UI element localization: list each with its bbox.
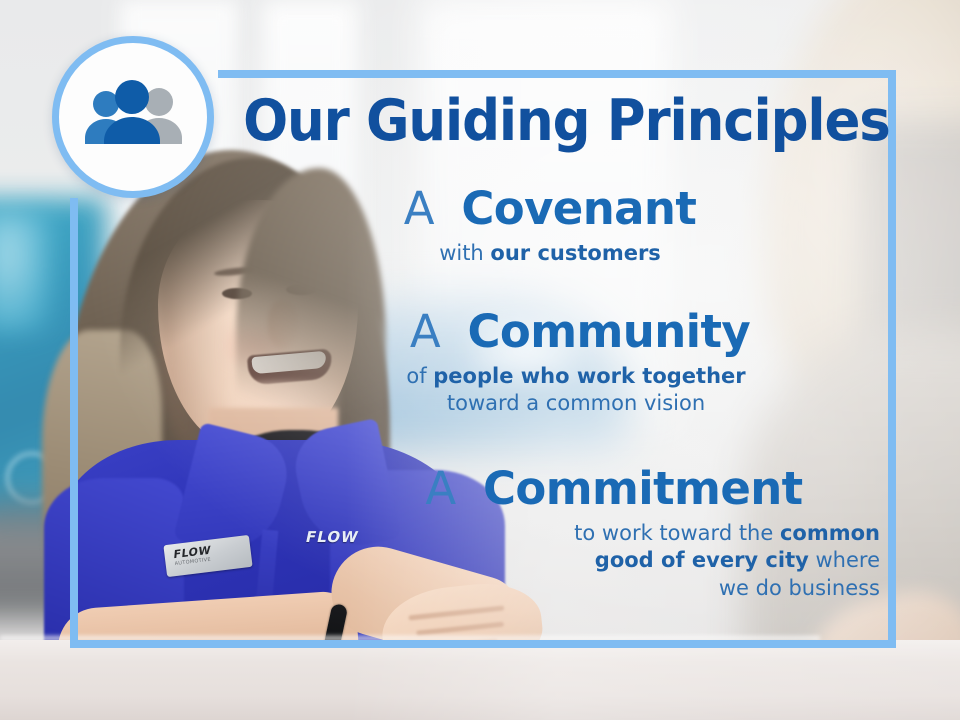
principle-community-article: A — [410, 305, 454, 358]
text-fragment: to work toward the — [574, 521, 780, 545]
principle-community-keyword: Community — [467, 305, 750, 358]
principle-covenant-article: A — [404, 182, 448, 235]
people-group-badge — [52, 36, 214, 198]
page-title: Our Guiding Principles — [243, 92, 857, 150]
principle-community-subtext: of people who work together toward a com… — [220, 363, 880, 418]
principle-commitment-line-2: good of every city where — [220, 547, 880, 575]
text-fragment: of — [406, 364, 433, 388]
text-fragment: with — [439, 241, 490, 265]
text-fragment: where — [809, 548, 880, 572]
principle-covenant-subtext: with our customers — [220, 240, 880, 268]
content-block: Our Guiding Principles A Covenant with o… — [200, 70, 900, 648]
principle-commitment-article: A — [425, 462, 469, 515]
principle-covenant: A Covenant with our customers — [220, 185, 880, 267]
text-fragment: we do business — [719, 576, 880, 600]
principle-community-heading: A Community — [220, 308, 880, 356]
principle-community-line-1: of people who work together — [272, 363, 880, 391]
people-group-icon — [81, 80, 185, 154]
text-fragment-bold: our customers — [490, 241, 660, 265]
principle-community-line-2: toward a common vision — [272, 390, 880, 418]
principle-commitment-heading: A Commitment — [220, 465, 880, 513]
text-fragment-bold: people who work together — [433, 364, 745, 388]
principle-covenant-heading: A Covenant — [220, 185, 880, 233]
text-fragment-bold: good of every city — [595, 548, 809, 572]
principle-commitment-subtext: to work toward the common good of every … — [220, 520, 892, 603]
principle-commitment: A Commitment to work toward the common g… — [220, 465, 880, 603]
guiding-principles-poster: FLOW FLOW AUTOMOTIVE — [0, 0, 960, 720]
principle-commitment-line-1: to work toward the common — [220, 520, 880, 548]
text-fragment: toward a common vision — [447, 391, 705, 415]
principle-covenant-line-1: with our customers — [220, 240, 880, 268]
principle-covenant-keyword: Covenant — [461, 182, 696, 235]
principle-commitment-line-3: we do business — [220, 575, 880, 603]
principle-community: A Community of people who work together … — [220, 308, 880, 418]
text-fragment-bold: common — [780, 521, 880, 545]
principle-commitment-keyword: Commitment — [483, 462, 803, 515]
desk-surface — [0, 640, 960, 720]
